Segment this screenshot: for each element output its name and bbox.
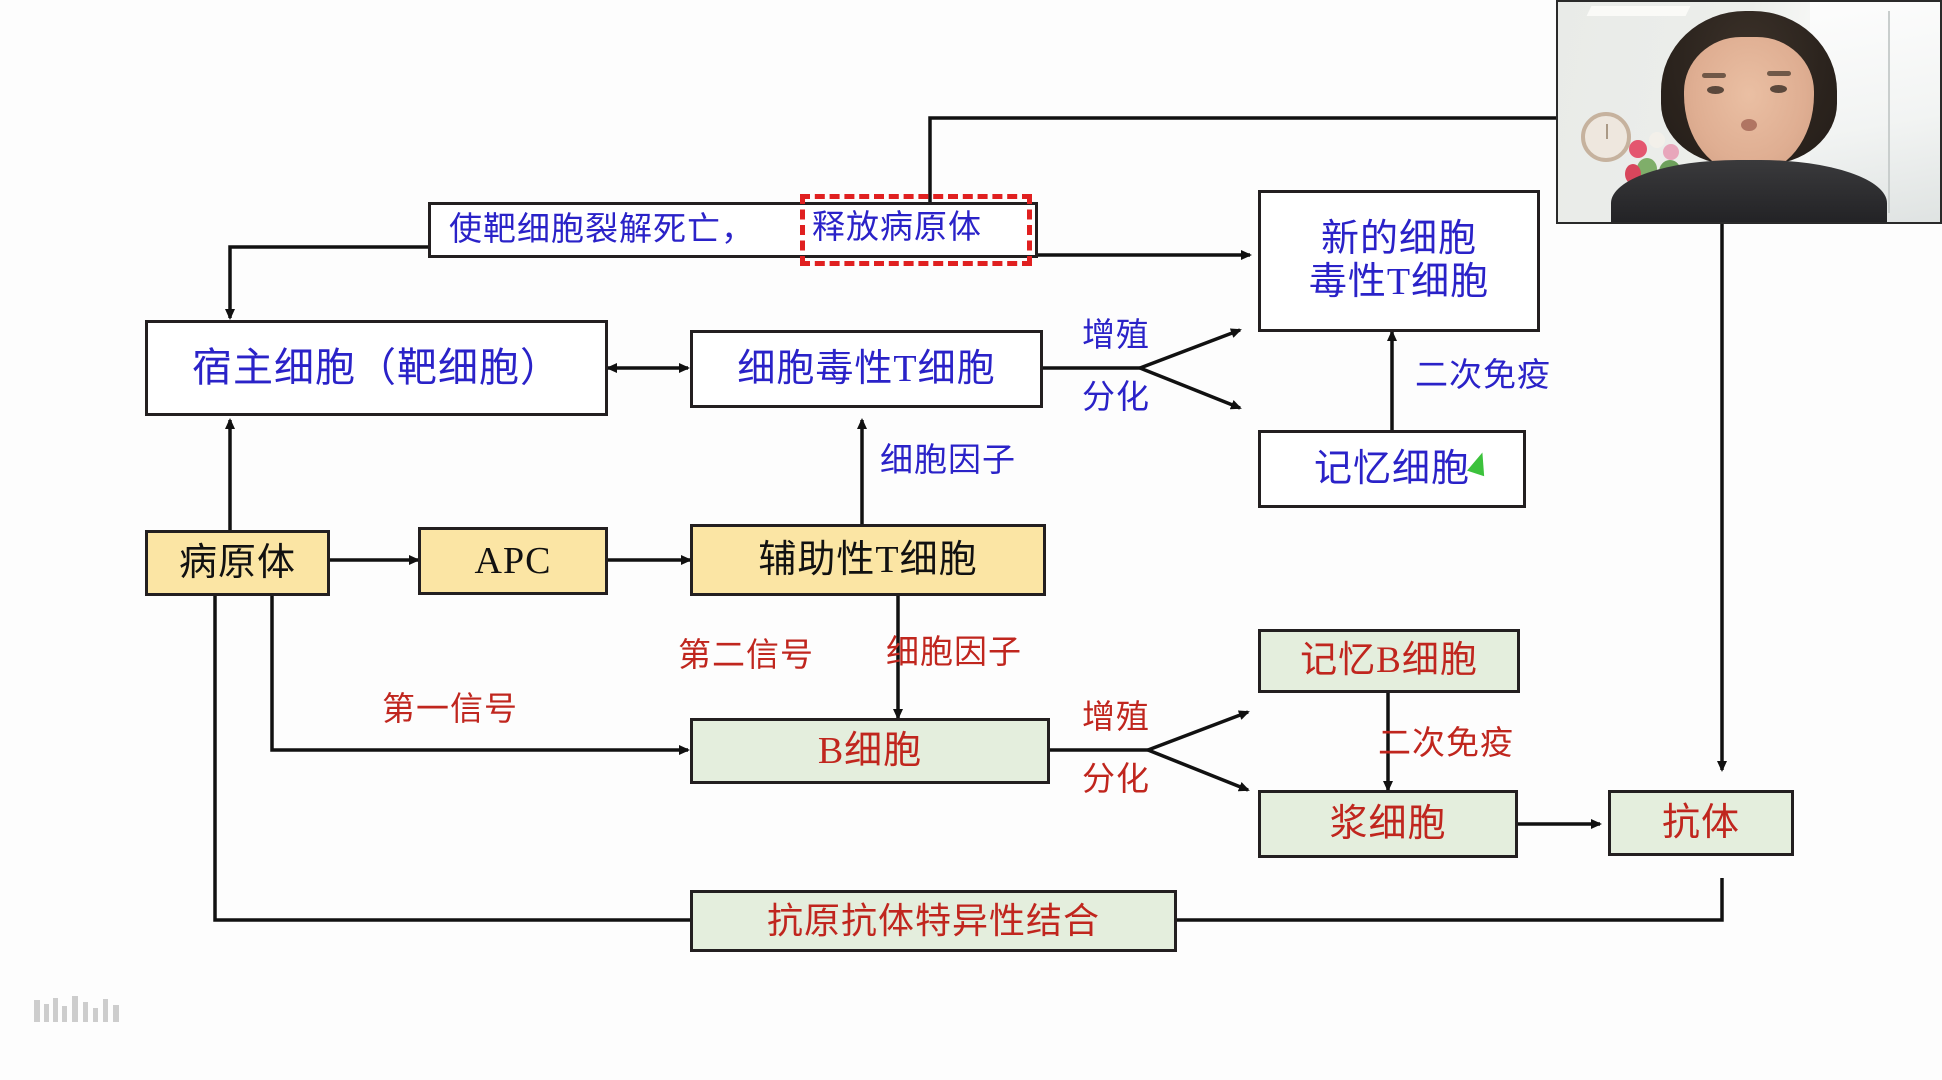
b-cell-label: B细胞 — [818, 730, 922, 773]
node-helper-t-cell[interactable]: 辅助性T细胞 — [690, 524, 1046, 596]
node-antigen-antibody-binding[interactable]: 抗原抗体特异性结合 — [690, 890, 1177, 952]
antigen-antibody-label: 抗原抗体特异性结合 — [767, 901, 1100, 941]
memory-b-cell-label: 记忆B细胞 — [1300, 640, 1478, 681]
label-secondary-immune-t: 二次免疫 — [1415, 358, 1551, 396]
label-second-signal: 第二信号 — [678, 638, 814, 676]
label-secondary-immune-b: 二次免疫 — [1378, 726, 1514, 764]
label-proliferate-b-line1: 增殖 — [1082, 700, 1150, 738]
memory-cell-label: 记忆细胞 — [1314, 448, 1470, 491]
bilibili-watermark-icon — [26, 988, 144, 1034]
host-cell-label: 宿主细胞（靶细胞） — [192, 346, 561, 391]
webcam-ceiling-light — [1586, 6, 1690, 16]
node-antibody[interactable]: 抗体 — [1608, 790, 1794, 856]
node-host-cell[interactable]: 宿主细胞（靶细胞） — [145, 320, 608, 416]
label-proliferate-t-line1: 增殖 — [1082, 318, 1150, 356]
node-cytotoxic-t-cell[interactable]: 细胞毒性T细胞 — [690, 330, 1043, 408]
antibody-label: 抗体 — [1662, 802, 1740, 845]
plasma-cell-label: 浆细胞 — [1329, 803, 1446, 846]
new-cytotoxic-t-line1: 新的细胞 — [1321, 218, 1477, 261]
diagram-canvas: 使靶细胞裂解死亡， 释放病原体 宿主细胞（靶细胞） 细胞毒性T细胞 新的细胞 毒… — [0, 0, 1942, 1080]
apc-label: APC — [475, 540, 552, 583]
node-b-cell[interactable]: B细胞 — [690, 718, 1050, 784]
lysis-release-text: 使靶细胞裂解死亡， — [449, 212, 755, 249]
label-proliferate-b-line2: 分化 — [1082, 762, 1150, 800]
helper-t-label: 辅助性T细胞 — [758, 539, 977, 582]
pathogen-label: 病原体 — [179, 542, 296, 585]
webcam-window-frame — [1888, 11, 1890, 213]
node-memory-b-cell[interactable]: 记忆B细胞 — [1258, 629, 1520, 693]
release-pathogen-text: 释放病原体 — [812, 210, 982, 248]
label-cytokine-lower: 细胞因子 — [886, 635, 1022, 673]
node-apc[interactable]: APC — [418, 527, 608, 595]
presenter-webcam[interactable] — [1556, 0, 1942, 224]
node-plasma-cell[interactable]: 浆细胞 — [1258, 790, 1518, 858]
label-first-signal: 第一信号 — [382, 692, 518, 730]
new-cytotoxic-t-line2: 毒性T细胞 — [1309, 261, 1489, 304]
node-pathogen[interactable]: 病原体 — [145, 530, 330, 596]
node-new-cytotoxic-t-cell[interactable]: 新的细胞 毒性T细胞 — [1258, 190, 1540, 332]
label-cytokine-upper: 细胞因子 — [880, 443, 1016, 481]
cytotoxic-t-label: 细胞毒性T细胞 — [737, 348, 995, 391]
label-proliferate-t-line2: 分化 — [1082, 380, 1150, 418]
